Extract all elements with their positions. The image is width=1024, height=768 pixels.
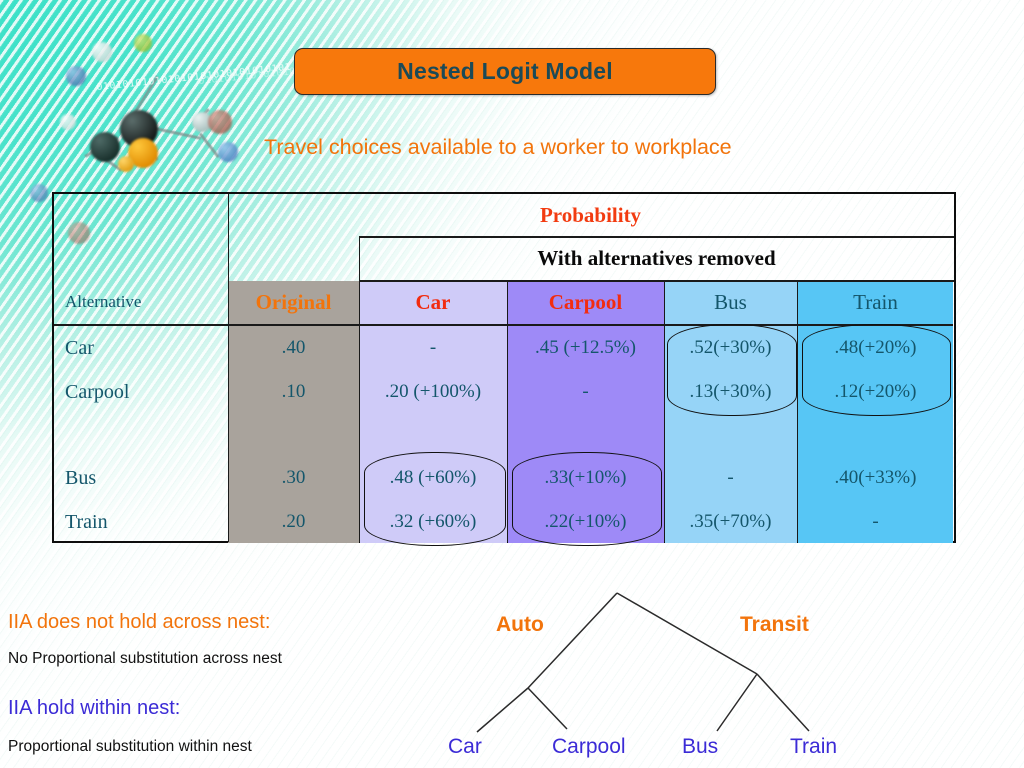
table-header-with-alternatives-removed: With alternatives removed [360,237,953,280]
table-row: .30 [229,456,358,500]
table-header-alternative: Alternative [54,280,238,324]
note-body-within-nest: Proportional substitution within nest [8,738,252,756]
table-row: .48 (+60%) [360,456,506,500]
table-row: Bus [54,456,238,500]
table-header-probability: Probability [228,194,953,236]
table-row: .20 (+100%) [360,370,506,414]
table-header-train: Train [798,280,953,324]
tree-nest-label-transit: Transit [740,613,809,637]
tree-leaf-label-train: Train [790,735,837,759]
table-row: .10 [229,370,358,414]
slide-subtitle: Travel choices available to a worker to … [264,135,964,160]
table-row: .13(+30%) [665,370,796,414]
table-row: .32 (+60%) [360,500,506,544]
tree-leaf-label-car: Car [448,735,482,759]
table-row: .45 (+12.5%) [508,326,663,370]
table-row: .40(+33%) [798,456,953,500]
table-row: - [798,500,953,544]
tree-leaf-label-carpool: Carpool [552,735,626,759]
note-body-across-nest: No Proportional substitution across nest [8,650,282,668]
tree-leaf-label-bus: Bus [682,735,718,759]
table-row: Carpool [54,370,238,414]
tree-nest-label-auto: Auto [496,613,544,637]
table-row: Car [54,326,238,370]
table-row: .35(+70%) [665,500,796,544]
table-row: - [508,370,663,414]
table-row: .48(+20%) [798,326,953,370]
table-row: .22(+10%) [508,500,663,544]
table-row: .33(+10%) [508,456,663,500]
table-header-car: Car [360,280,506,324]
note-heading-across-nest: IIA does not hold across nest: [8,611,270,634]
table-row: .20 [229,500,358,544]
table-header-original: Original [229,280,358,324]
table-header-carpool: Carpool [508,280,663,324]
table-row: - [665,456,796,500]
table-row: Train [54,500,238,544]
table-row: - [360,326,506,370]
table-row: .52(+30%) [665,326,796,370]
table-row: .40 [229,326,358,370]
probability-table: Probability With alternatives removed Al… [52,192,956,543]
molecule-decoration-image: 010101010101010101010101010101 010101010… [22,14,252,204]
table-header-bus: Bus [665,280,796,324]
page-title: Nested Logit Model [397,58,613,85]
note-heading-within-nest: IIA hold within nest: [8,697,180,720]
table-row: .12(+20%) [798,370,953,414]
slide-title-box: Nested Logit Model [294,48,716,95]
